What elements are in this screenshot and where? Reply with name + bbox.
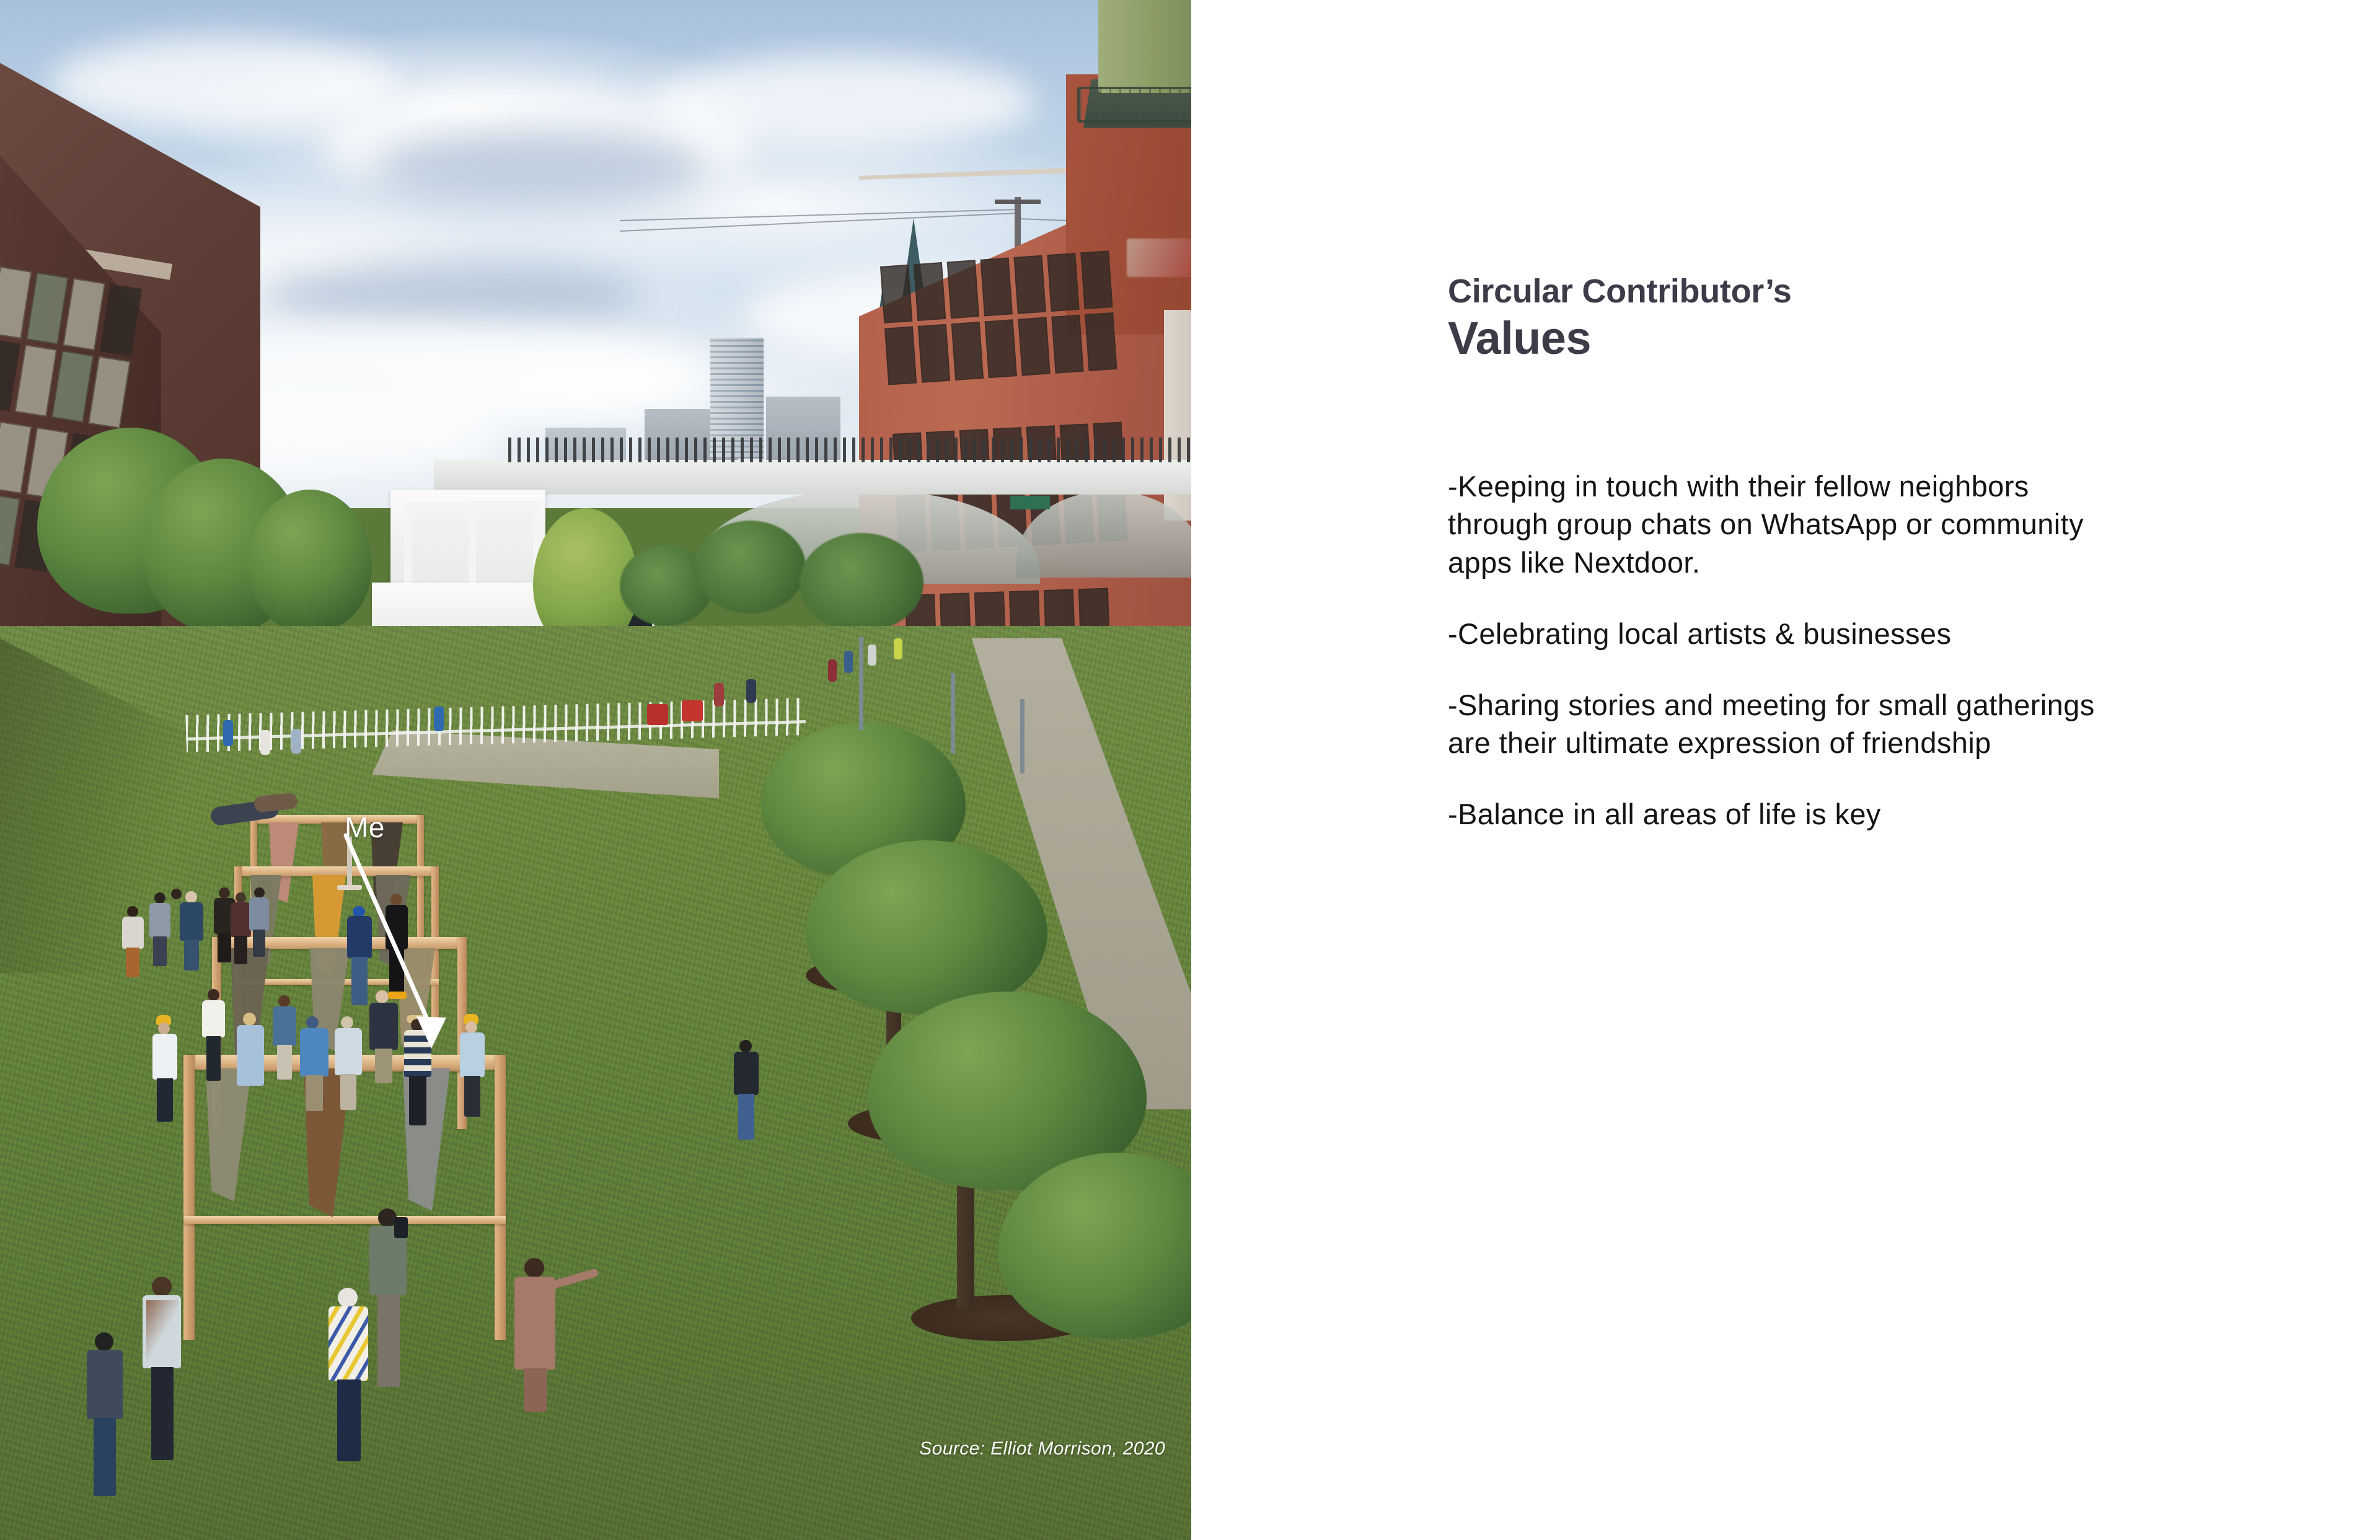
graffiti-mark <box>1127 239 1191 277</box>
bridge-deck <box>434 460 1191 495</box>
tree <box>248 490 372 632</box>
person-far <box>746 679 756 703</box>
cloud-shape <box>651 56 1035 149</box>
installation-post <box>495 1055 506 1340</box>
installation-rail <box>183 1216 506 1224</box>
water-tower <box>1098 0 1191 93</box>
photo-panel: Me Source: Elliot Morrison, 2020 <box>0 0 1191 1540</box>
street-sign <box>1010 496 1050 509</box>
water-tower-railing <box>1077 87 1191 123</box>
utility-crossarm <box>995 200 1041 204</box>
street-lamp <box>859 637 863 730</box>
text-panel: Circular Contributor’s Values -Keeping i… <box>1191 0 2380 1540</box>
person-far <box>828 659 837 682</box>
page-title: Values <box>1448 314 2192 363</box>
list-item: -Keeping in touch with their fellow neig… <box>1448 467 2123 581</box>
cloud-shape <box>50 37 397 130</box>
street-lamp <box>951 673 955 754</box>
person-far <box>714 683 724 706</box>
person-far <box>434 706 444 731</box>
installation-beam <box>250 815 424 824</box>
bush <box>800 533 923 632</box>
eyebrow-title: Circular Contributor’s <box>1448 273 2192 310</box>
window-grid <box>880 250 1117 385</box>
bridge-railing <box>508 438 1191 462</box>
list-item: -Celebrating local artists & businesses <box>1448 615 2123 653</box>
lawn-chair <box>647 704 668 725</box>
cloud-shape-dark <box>260 260 645 328</box>
values-list: -Keeping in touch with their fellow neig… <box>1448 467 2192 833</box>
cloud-shape-dark <box>372 130 707 205</box>
slide-root: Me Source: Elliot Morrison, 2020 Circula… <box>0 0 2380 1540</box>
person-far <box>291 729 301 754</box>
person-far <box>260 730 270 755</box>
street-lamp <box>1020 699 1025 773</box>
window-grid <box>0 266 142 428</box>
list-item: -Sharing stories and meeting for small g… <box>1448 686 2123 762</box>
person-far <box>844 651 853 673</box>
me-annotation-arrow <box>335 830 471 1066</box>
installation-post <box>183 1055 195 1340</box>
lawn-chair <box>682 700 703 721</box>
list-item: -Balance in all areas of life is key <box>1448 795 2123 833</box>
person-far <box>894 638 902 659</box>
bush <box>694 521 806 614</box>
person-far <box>868 645 876 666</box>
text-block: Circular Contributor’s Values -Keeping i… <box>1448 273 2192 833</box>
source-caption: Source: Elliot Morrison, 2020 <box>919 1438 1165 1459</box>
person-far <box>223 720 233 746</box>
